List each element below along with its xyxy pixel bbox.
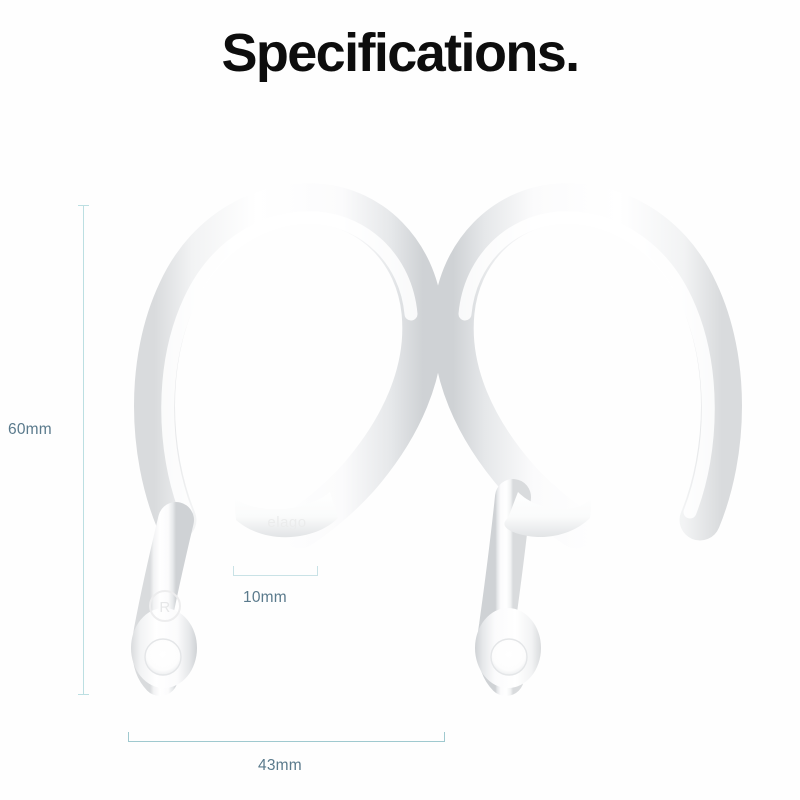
brand-emboss-left: elago bbox=[267, 514, 306, 531]
dimension-height-line bbox=[78, 205, 90, 695]
dimension-width-shaft bbox=[128, 741, 445, 742]
dimension-cuff-label: 10mm bbox=[243, 589, 287, 607]
dimension-height-cap-bottom bbox=[78, 694, 89, 695]
dimension-height-label: 60mm bbox=[8, 421, 52, 439]
dimension-cuff-cap-right bbox=[317, 566, 318, 576]
side-marker-r-left: R bbox=[159, 599, 170, 616]
dimension-width-cap-right bbox=[444, 732, 445, 742]
dimension-cuff-line bbox=[233, 566, 318, 576]
dimension-cuff-shaft bbox=[233, 575, 318, 576]
dimension-width-line bbox=[128, 732, 445, 742]
earhook-left: R elago bbox=[131, 204, 423, 688]
earhook-right bbox=[453, 204, 721, 688]
specifications-page: Specifications. bbox=[0, 0, 800, 800]
product-illustration: R elago bbox=[0, 0, 800, 800]
dimension-width-label: 43mm bbox=[258, 757, 302, 775]
dimension-height-shaft bbox=[83, 205, 84, 695]
